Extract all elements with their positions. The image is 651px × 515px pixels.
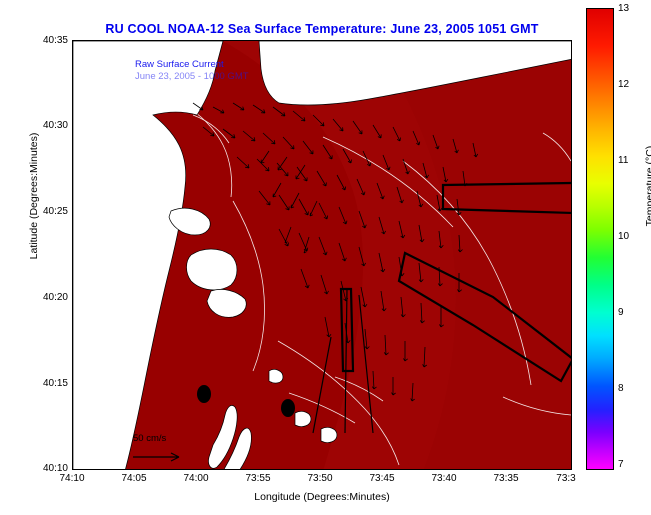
xtick-1: 74:05 [109,473,159,484]
colorbar-tick-9: 9 [618,307,624,318]
map-plot-area[interactable]: Raw Surface Current June 23, 2005 - 1000… [72,40,572,470]
xtick-5: 73:45 [357,473,407,484]
xtick-4: 73:50 [295,473,345,484]
colorbar-tick-11: 11 [618,155,628,166]
vector-scale-label: 50 cm/s [133,433,166,444]
ytick-0: 40:35 [22,35,68,46]
sst-chart-page: RU COOL NOAA-12 Sea Surface Temperature:… [0,0,651,515]
xtick-2: 74:00 [171,473,221,484]
colorbar [586,8,614,470]
y-axis-title: Latitude (Degrees:Minutes) [28,76,40,316]
x-axis-title: Longitude (Degrees:Minutes) [72,491,572,503]
xtick-0: 74:10 [47,473,97,484]
vector-scale-arrow-icon [131,449,191,465]
xtick-6: 73:40 [419,473,469,484]
xtick-3: 73:55 [233,473,283,484]
colorbar-tick-10: 10 [618,231,629,242]
page-title: RU COOL NOAA-12 Sea Surface Temperature:… [72,22,572,36]
colorbar-tick-13: 13 [618,3,629,14]
colorbar-tick-12: 12 [618,79,629,90]
map-overlay [73,41,572,470]
station-markers [197,385,295,417]
ytick-4: 40:15 [22,378,68,389]
colorbar-tick-7: 7 [618,459,624,470]
colorbar-tick-8: 8 [618,383,624,394]
xtick-7: 73:35 [481,473,531,484]
sst-contour-shading [223,41,572,470]
colorbar-title: Temperature (°C) [644,106,651,266]
raw-current-line2: June 23, 2005 - 1000 GMT [135,71,249,83]
raw-current-line1: Raw Surface Current [135,59,249,71]
raw-current-annotation: Raw Surface Current June 23, 2005 - 1000… [135,59,249,83]
xtick-8: 73:3 [541,473,591,484]
ytick-5: 40:10 [22,463,68,474]
